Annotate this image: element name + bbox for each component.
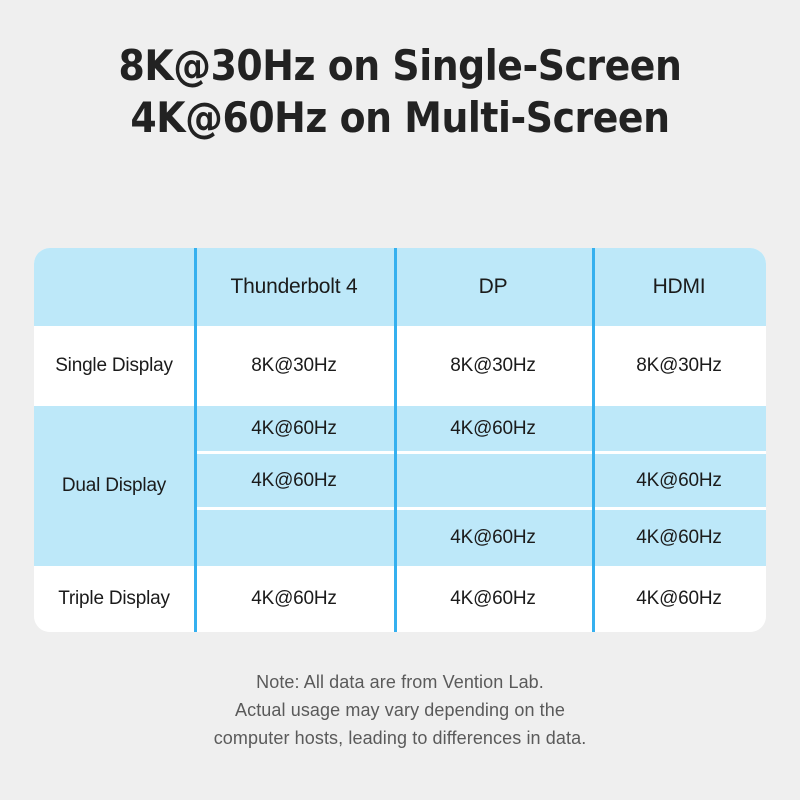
row-label-single-display: Single Display bbox=[34, 326, 194, 406]
header-cell-hdmi: HDMI bbox=[592, 248, 766, 326]
cell-dual3-hdmi: 4K@60Hz bbox=[592, 510, 766, 566]
cell-single-hdmi: 8K@30Hz bbox=[592, 326, 766, 406]
footnote-line-2: Actual usage may vary depending on the bbox=[0, 696, 800, 724]
footnote-block: Note: All data are from Vention Lab. Act… bbox=[0, 668, 800, 752]
row-label-dual-display: Dual Display bbox=[34, 406, 194, 566]
row-label-triple-display: Triple Display bbox=[34, 566, 194, 632]
headline-line-1: 8K@30Hz on Single-Screen bbox=[40, 40, 760, 92]
column-divider-2 bbox=[394, 248, 397, 632]
table-subrow-dual-3: 4K@60Hz 4K@60Hz bbox=[194, 510, 766, 566]
footnote-line-3: computer hosts, leading to differences i… bbox=[0, 724, 800, 752]
cell-dual3-dp: 4K@60Hz bbox=[394, 510, 592, 566]
table-subrow-dual-2: 4K@60Hz 4K@60Hz bbox=[194, 454, 766, 507]
cell-dual2-thunderbolt4: 4K@60Hz bbox=[194, 454, 394, 507]
dual-display-subrows: 4K@60Hz 4K@60Hz 4K@60Hz 4K@60Hz 4K@60Hz … bbox=[194, 406, 766, 566]
table-header-row: Thunderbolt 4 DP HDMI bbox=[34, 248, 766, 326]
cell-dual1-hdmi bbox=[592, 406, 766, 451]
footnote-line-1: Note: All data are from Vention Lab. bbox=[0, 668, 800, 696]
cell-triple-dp: 4K@60Hz bbox=[394, 566, 592, 632]
cell-triple-hdmi: 4K@60Hz bbox=[592, 566, 766, 632]
table-row-triple-display: Triple Display 4K@60Hz 4K@60Hz 4K@60Hz bbox=[34, 566, 766, 632]
headline-block: 8K@30Hz on Single-Screen 4K@60Hz on Mult… bbox=[0, 40, 800, 144]
comparison-table: Thunderbolt 4 DP HDMI Single Display 8K@… bbox=[34, 248, 766, 632]
cell-dual1-dp: 4K@60Hz bbox=[394, 406, 592, 451]
table-row-dual-display: Dual Display 4K@60Hz 4K@60Hz 4K@60Hz 4K@… bbox=[34, 406, 766, 566]
cell-dual3-thunderbolt4 bbox=[194, 510, 394, 566]
cell-single-thunderbolt4: 8K@30Hz bbox=[194, 326, 394, 406]
table-subrow-dual-1: 4K@60Hz 4K@60Hz bbox=[194, 406, 766, 451]
cell-single-dp: 8K@30Hz bbox=[394, 326, 592, 406]
table-row-single-display: Single Display 8K@30Hz 8K@30Hz 8K@30Hz bbox=[34, 326, 766, 406]
header-cell-dp: DP bbox=[394, 248, 592, 326]
header-cell-thunderbolt4: Thunderbolt 4 bbox=[194, 248, 394, 326]
cell-dual2-dp bbox=[394, 454, 592, 507]
cell-triple-thunderbolt4: 4K@60Hz bbox=[194, 566, 394, 632]
column-divider-1 bbox=[194, 248, 197, 632]
cell-dual1-thunderbolt4: 4K@60Hz bbox=[194, 406, 394, 451]
cell-dual2-hdmi: 4K@60Hz bbox=[592, 454, 766, 507]
column-divider-3 bbox=[592, 248, 595, 632]
headline-line-2: 4K@60Hz on Multi-Screen bbox=[40, 92, 760, 144]
header-cell-mode bbox=[34, 248, 194, 326]
